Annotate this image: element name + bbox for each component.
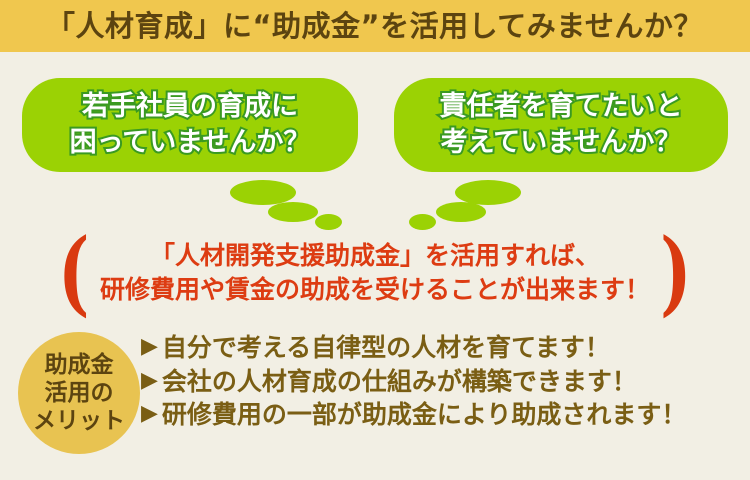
merit-badge: 助成金 活用の メリット (18, 332, 140, 454)
header-band: 「人材育成」に“助成金”を活用してみませんか？ (0, 0, 750, 52)
statement-block: ( 「人材開発支援助成金」を活用すれば、 研修費用や賃金の助成を受けることが出来… (0, 231, 750, 315)
statement-text: 「人材開発支援助成金」を活用すれば、 研修費用や賃金の助成を受けることが出来ます… (100, 239, 650, 307)
bubble-right-tail-medium (436, 202, 486, 222)
statement-line-2: 研修費用や賃金の助成を受けることが出来ます！ (100, 273, 650, 307)
bubble-right-line-1: 責任者を育てたいと (440, 89, 683, 125)
promo-banner: 「人材育成」に“助成金”を活用してみませんか？ 若手社員の育成に 困っていません… (0, 0, 750, 480)
speech-bubble-right: 責任者を育てたいと 考えていませんか？ (394, 78, 728, 172)
triangle-right-icon: ▶ (141, 370, 158, 392)
list-item: ▶ 研修費用の一部が助成金により助成されます！ (141, 400, 741, 431)
list-item: ▶ 自分で考える自律型の人材を育てます！ (141, 333, 741, 364)
merit-badge-line-3: メリット (33, 407, 125, 435)
bubble-right-line-2: 考えていませんか？ (441, 125, 682, 161)
bubble-left-tail-small (315, 214, 342, 230)
list-item: ▶ 会社の人材育成の仕組みが構築できます！ (141, 367, 741, 398)
merit-item-label: 研修費用の一部が助成金により助成されます！ (162, 400, 687, 431)
merit-item-label: 会社の人材育成の仕組みが構築できます！ (162, 367, 637, 398)
statement-line-1: 「人材開発支援助成金」を活用すれば、 (100, 239, 650, 273)
speech-bubble-left: 若手社員の育成に 困っていませんか？ (22, 78, 358, 172)
merit-list: ▶ 自分で考える自律型の人材を育てます！ ▶ 会社の人材育成の仕組みが構築できま… (141, 333, 741, 431)
close-paren-glyph: ) (660, 237, 691, 309)
bubble-right-tail-small (409, 214, 436, 230)
open-paren-glyph: ( (59, 237, 90, 309)
bubble-left-line-2: 困っていませんか？ (70, 125, 311, 161)
bubble-left-tail-large (230, 180, 296, 205)
merit-item-label: 自分で考える自律型の人材を育てます！ (162, 333, 610, 364)
bubble-left-tail-medium (268, 202, 318, 222)
triangle-right-icon: ▶ (141, 336, 158, 358)
bubble-left-line-1: 若手社員の育成に (82, 89, 298, 125)
merit-badge-line-1: 助成金 (45, 351, 114, 379)
triangle-right-icon: ▶ (141, 403, 158, 425)
merit-badge-line-2: 活用の (45, 379, 114, 407)
page-title: 「人材育成」に“助成金”を活用してみませんか？ (46, 12, 703, 41)
